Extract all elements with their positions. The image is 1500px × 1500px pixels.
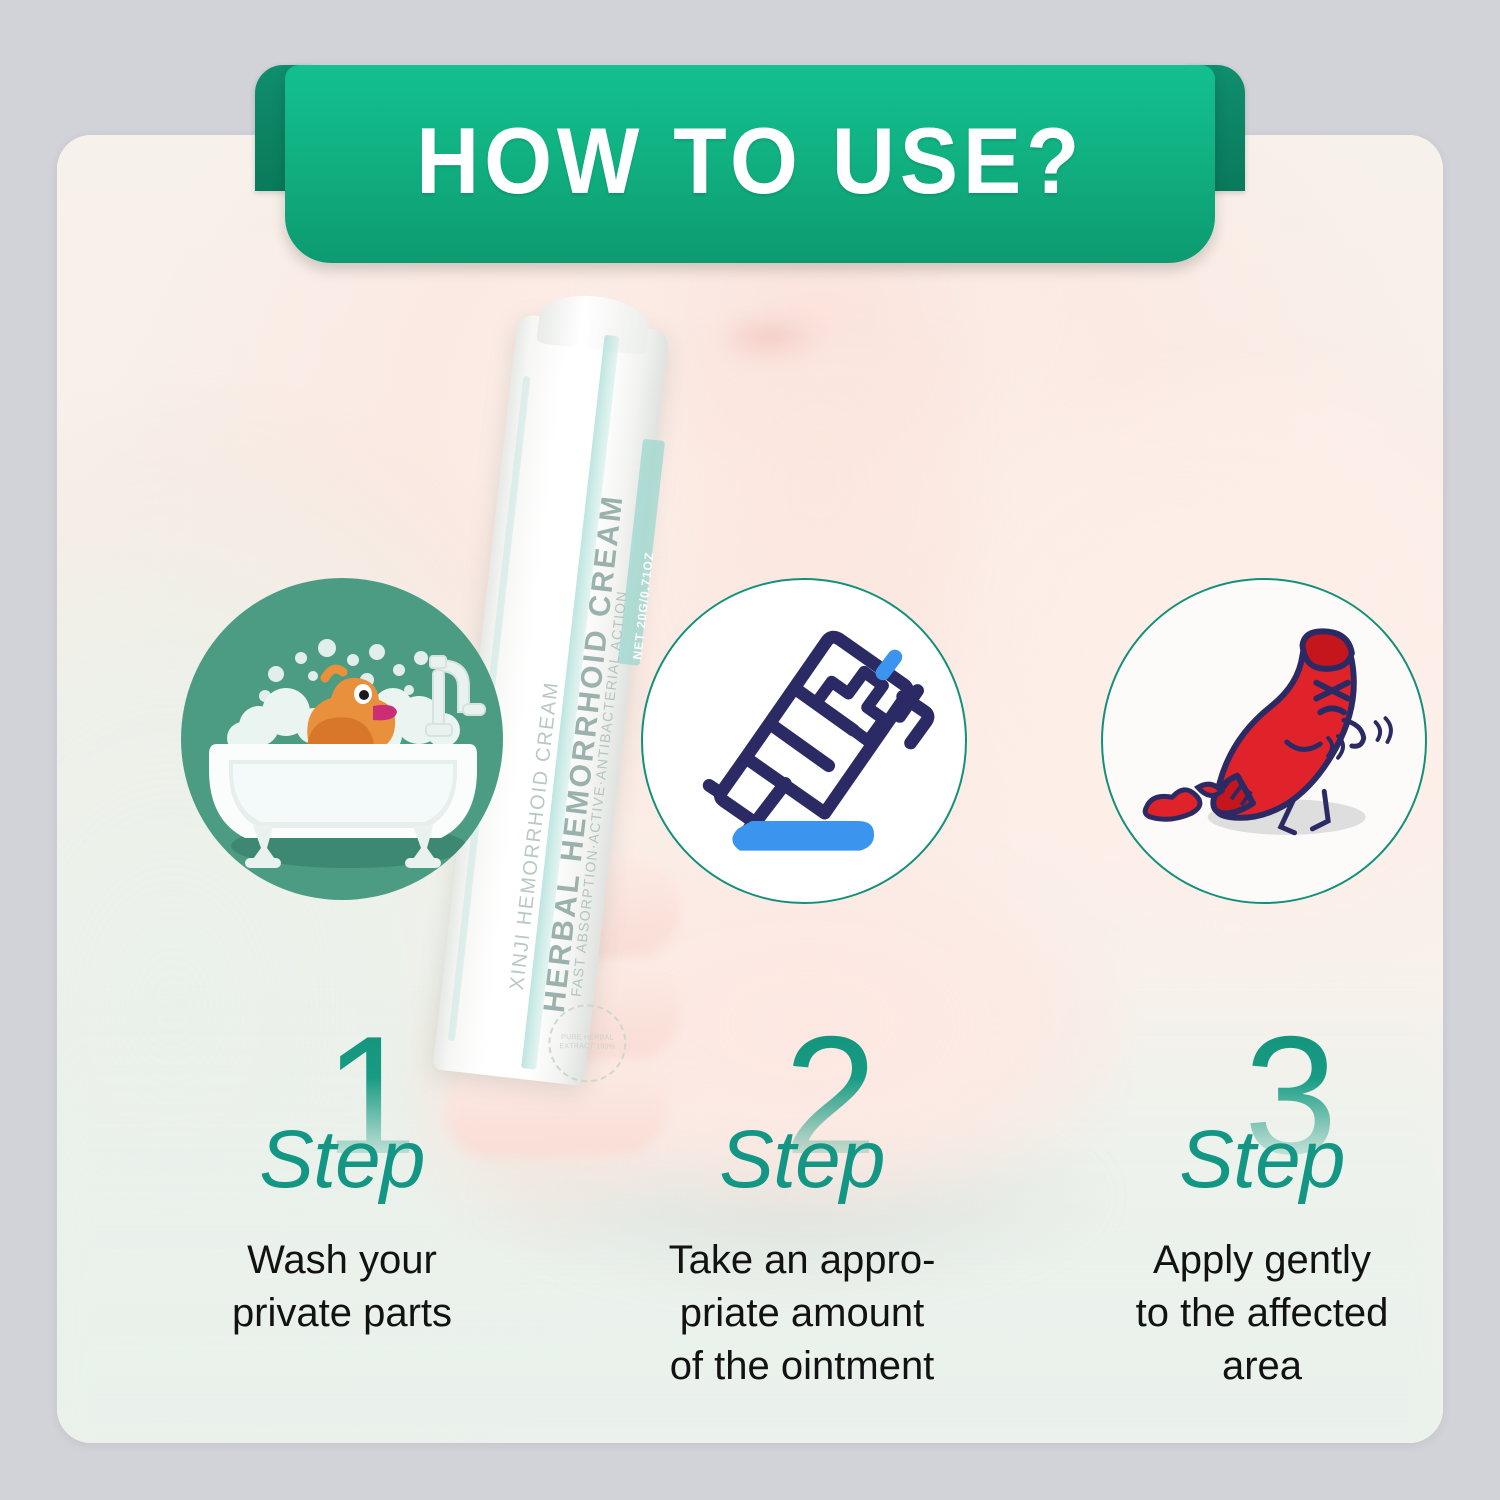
step-3-word: Step [1179, 1119, 1344, 1201]
step-3-illustration-circle [1101, 578, 1427, 904]
step-3-desc-line: area [1047, 1340, 1443, 1393]
step-2-desc-line: of the ointment [587, 1340, 1017, 1393]
step-1-word: Step [259, 1119, 424, 1201]
infographic-root: XINJI HEMORRHOID CREAM HERBAL HEMORRHOID… [0, 0, 1500, 1500]
tube-highlight [883, 657, 895, 673]
step-1-block: 1 Step Wash your private parts [127, 1025, 557, 1340]
bathtub-icon [181, 578, 503, 900]
step-3-heading: 3 Step [1047, 1025, 1443, 1220]
step-2-heading: 2 Step [587, 1025, 1017, 1220]
step-1-description: Wash your private parts [127, 1234, 557, 1340]
step-3-description: Apply gently to the affected area [1047, 1234, 1443, 1392]
step-3-desc-line: Apply gently [1047, 1234, 1443, 1287]
step-2-block: 2 Step Take an appro- priate amount of t… [587, 1025, 1017, 1392]
banner-body: HOW TO USE? [285, 65, 1215, 263]
step-3-block: 3 Step Apply gently to the affected area [1047, 1025, 1443, 1392]
step-2-word: Step [719, 1119, 884, 1201]
step-2-desc-line: priate amount [587, 1287, 1017, 1340]
step-3-desc-line: to the affected [1047, 1287, 1443, 1340]
step-1-illustration-circle [181, 578, 503, 900]
banner-title: HOW TO USE? [416, 114, 1084, 214]
hemorrhoid-mascot-icon [1103, 580, 1421, 898]
content-card: XINJI HEMORRHOID CREAM HERBAL HEMORRHOID… [57, 135, 1443, 1443]
step-1-heading: 1 Step [127, 1025, 557, 1220]
step-1-desc-line: private parts [127, 1287, 557, 1340]
step-2-desc-line: Take an appro- [587, 1234, 1017, 1287]
header-banner: HOW TO USE? [255, 55, 1245, 270]
ointment-tube-icon [643, 580, 961, 898]
step-2-description: Take an appro- priate amount of the oint… [587, 1234, 1017, 1392]
cream-blob [732, 821, 874, 851]
step-1-desc-line: Wash your [127, 1234, 557, 1287]
blood-puddle [1145, 790, 1200, 819]
step-2-illustration-circle [641, 578, 967, 904]
